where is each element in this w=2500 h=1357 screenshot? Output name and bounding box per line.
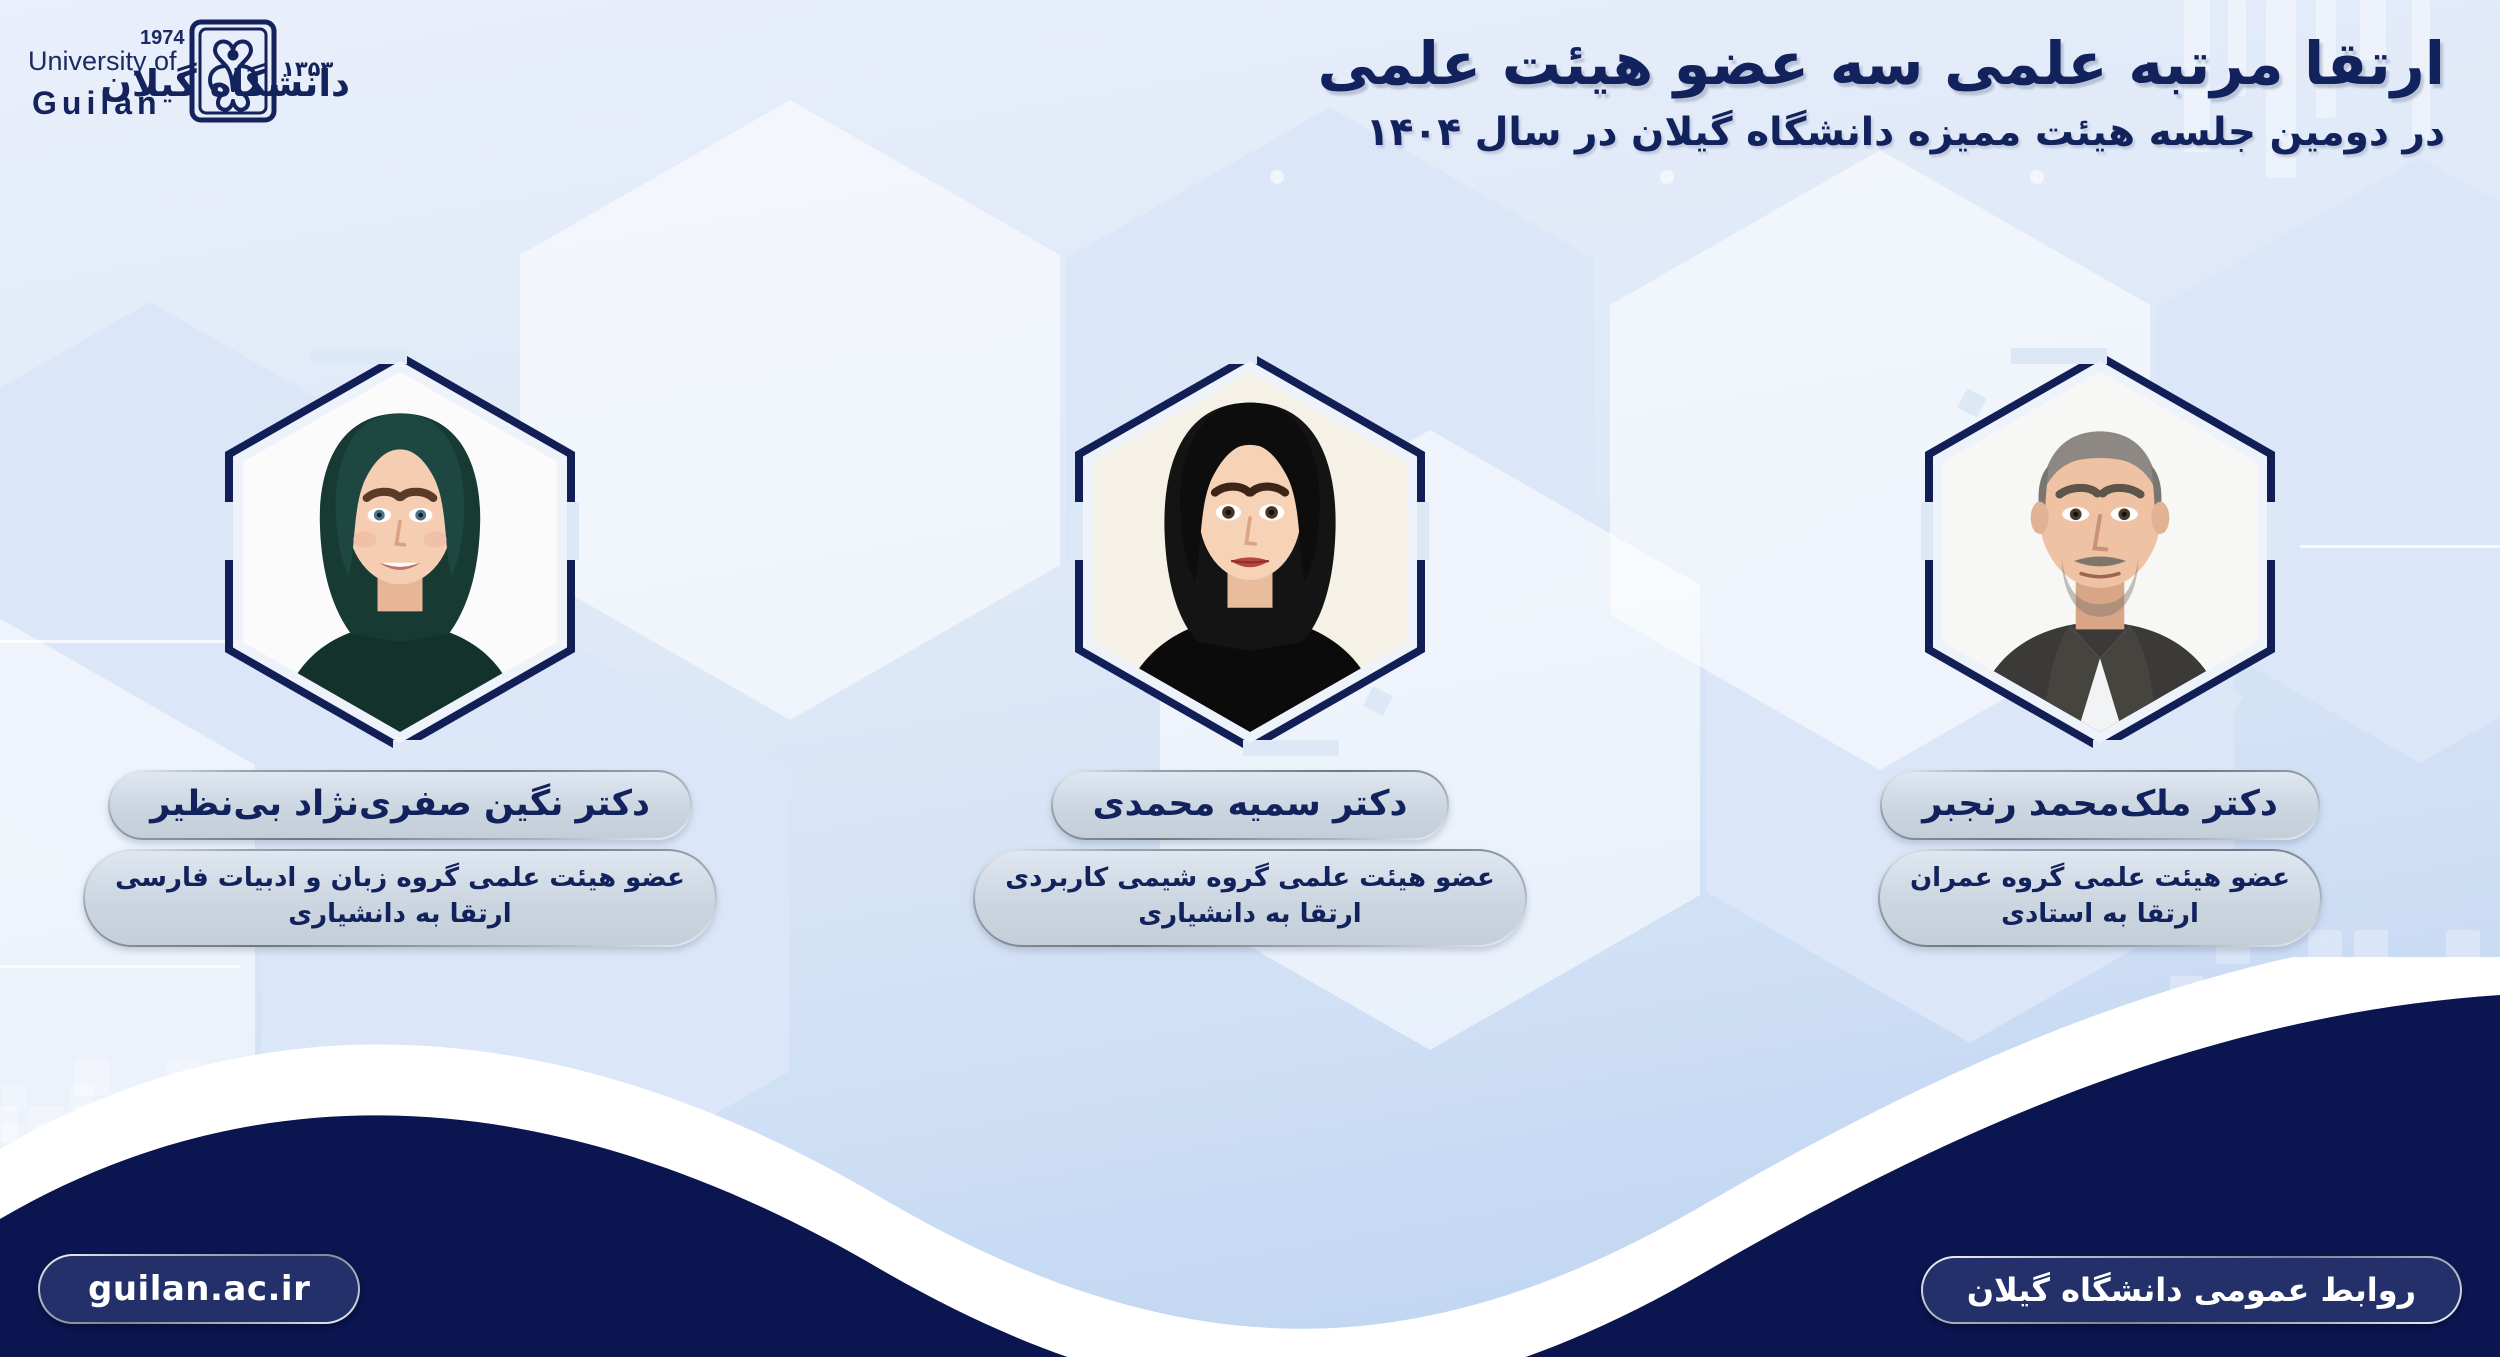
person-role: عضو هیئت علمی گروه زبان و ادبیات فارسی ا… xyxy=(85,851,715,945)
people-row: دکتر نگین صفری‌نژاد بی‌نظیر عضو هیئت علم… xyxy=(0,352,2500,1052)
svg-text:1974: 1974 xyxy=(140,27,185,49)
poster-canvas: University of Guilan 1974 ۱۳۵۳ دانشگاه گ… xyxy=(0,0,2500,1357)
person-department: عضو هیئت علمی گروه زبان و ادبیات فارسی xyxy=(115,861,685,897)
person-name: دکتر نگین صفری‌نژاد بی‌نظیر xyxy=(110,772,690,838)
dot-1 xyxy=(1270,170,1284,184)
person-card: دکتر ملک‌محمد رنجبر عضو هیئت علمی گروه ع… xyxy=(1790,352,2410,947)
person-role: عضو هیئت علمی گروه شیمی کاربردی ارتقا به… xyxy=(975,851,1525,945)
person-promotion: ارتقا به استادی xyxy=(1910,897,2290,933)
person-photo-frame xyxy=(225,352,575,752)
person-card: دکتر نگین صفری‌نژاد بی‌نظیر عضو هیئت علم… xyxy=(90,352,710,947)
svg-text:دانشگاه گیلان: دانشگاه گیلان xyxy=(100,62,350,105)
person-card: دکتر سمیه محمدی عضو هیئت علمی گروه شیمی … xyxy=(940,352,1560,947)
person-name: دکتر ملک‌محمد رنجبر xyxy=(1882,772,2318,838)
person-name-badge: دکتر سمیه محمدی xyxy=(1051,770,1450,840)
person-role: عضو هیئت علمی گروه عمران ارتقا به استادی xyxy=(1880,851,2320,945)
person-name: دکتر سمیه محمدی xyxy=(1053,772,1448,838)
website-badge[interactable]: guilan.ac.ir xyxy=(38,1254,360,1324)
person-role-badge: عضو هیئت علمی گروه زبان و ادبیات فارسی ا… xyxy=(83,849,717,947)
page-title: ارتقا مرتبه علمی سه عضو هیئت علمی xyxy=(1318,30,2445,98)
person-photo-frame xyxy=(1075,352,1425,752)
person-name-badge: دکتر نگین صفری‌نژاد بی‌نظیر xyxy=(108,770,692,840)
person-department: عضو هیئت علمی گروه شیمی کاربردی xyxy=(1005,861,1495,897)
public-relations-label: روابط عمومی دانشگاه گیلان xyxy=(1923,1258,2460,1322)
person-promotion: ارتقا به دانشیاری xyxy=(1005,897,1495,933)
university-logo: University of Guilan 1974 ۱۳۵۳ دانشگاه گ… xyxy=(20,8,490,133)
person-role-badge: عضو هیئت علمی گروه شیمی کاربردی ارتقا به… xyxy=(973,849,1527,947)
public-relations-badge[interactable]: روابط عمومی دانشگاه گیلان xyxy=(1921,1256,2462,1324)
dot-2 xyxy=(1660,170,1674,184)
person-role-badge: عضو هیئت علمی گروه عمران ارتقا به استادی xyxy=(1878,849,2322,947)
title-block: ارتقا مرتبه علمی سه عضو هیئت علمی در دوم… xyxy=(1318,30,2445,157)
person-photo-frame xyxy=(1925,352,2275,752)
person-name-badge: دکتر ملک‌محمد رنجبر xyxy=(1880,770,2320,840)
person-department: عضو هیئت علمی گروه عمران xyxy=(1910,861,2290,897)
dot-3 xyxy=(2030,170,2044,184)
person-promotion: ارتقا به دانشیاری xyxy=(115,897,685,933)
page-subtitle: در دومین جلسه هیئت ممیزه دانشگاه گیلان د… xyxy=(1318,110,2445,157)
website-url: guilan.ac.ir xyxy=(40,1256,358,1322)
